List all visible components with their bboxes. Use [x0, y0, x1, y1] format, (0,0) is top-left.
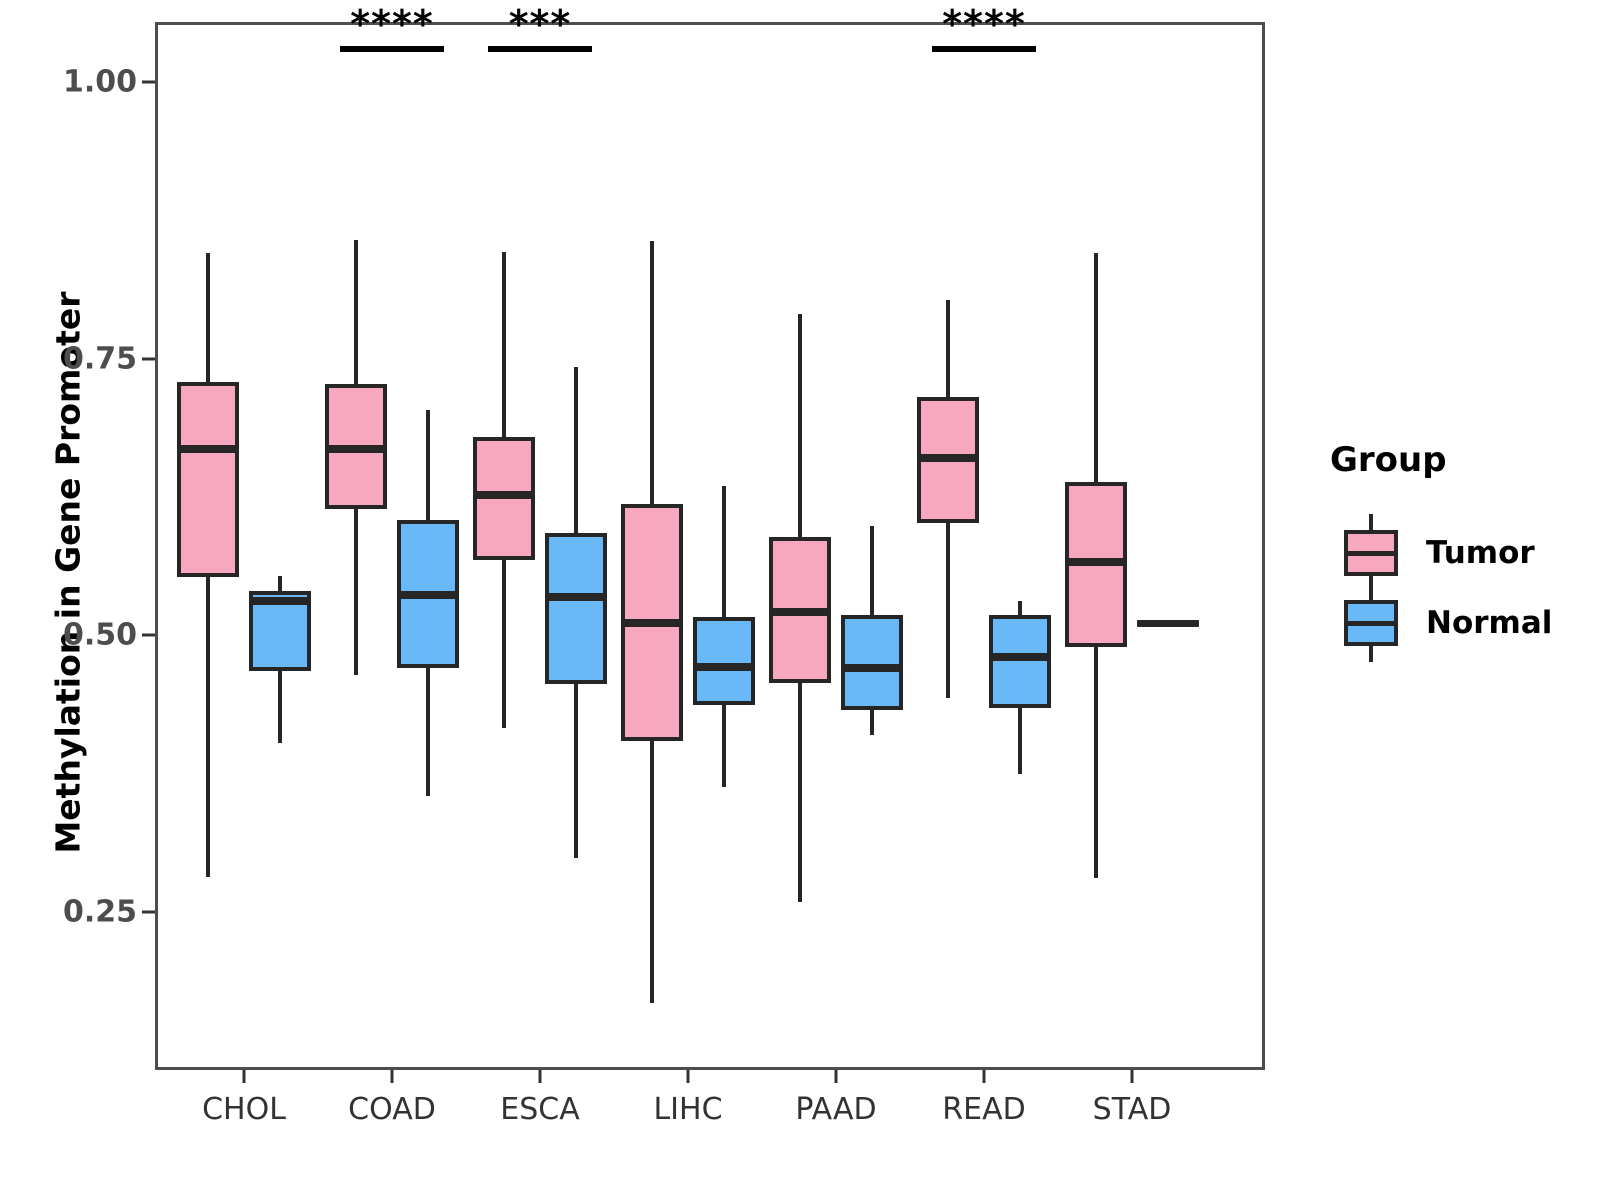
- box-stad-tumor-median: [1065, 558, 1127, 566]
- sig-bracket-esca: [488, 46, 592, 52]
- box-paad-normal: [841, 615, 903, 710]
- box-read-normal-median: [989, 653, 1051, 661]
- box-coad-tumor-median: [325, 445, 387, 453]
- x-tick-mark: [835, 1070, 838, 1083]
- sig-stars-esca: ***: [509, 2, 572, 46]
- legend-key-median: [1344, 621, 1398, 626]
- box-lihc-tumor-median: [621, 619, 683, 627]
- box-lihc-normal-median: [693, 663, 755, 671]
- y-tick-mark: [142, 910, 155, 913]
- y-tick-mark: [142, 634, 155, 637]
- sig-stars-read: ****: [942, 2, 1026, 46]
- x-tick-label-esca: ESCA: [500, 1092, 579, 1127]
- y-tick-label: 1.00: [27, 65, 137, 100]
- x-tick-label-coad: COAD: [348, 1092, 436, 1127]
- box-stad-normal-flat: [1137, 620, 1199, 627]
- box-lihc-normal: [693, 617, 755, 704]
- x-tick-label-read: READ: [942, 1092, 1025, 1127]
- y-tick-label: 0.50: [27, 618, 137, 653]
- x-tick-mark: [243, 1070, 246, 1083]
- x-tick-mark: [539, 1070, 542, 1083]
- x-tick-label-paad: PAAD: [795, 1092, 876, 1127]
- box-chol-tumor-median: [177, 445, 239, 453]
- legend-key-median: [1344, 551, 1398, 556]
- y-tick-label: 0.75: [27, 341, 137, 376]
- legend-label-normal: Normal: [1426, 605, 1552, 641]
- y-tick-mark: [142, 81, 155, 84]
- box-chol-tumor: [177, 382, 239, 578]
- box-esca-normal-median: [545, 593, 607, 601]
- chart-root: Methylation in Gene Promoter 1.000.750.5…: [0, 0, 1600, 1200]
- y-tick-label: 0.25: [27, 894, 137, 929]
- x-tick-mark: [391, 1070, 394, 1083]
- box-chol-normal-median: [249, 597, 311, 605]
- legend-key-whisker-top: [1369, 584, 1373, 600]
- box-read-tumor-median: [917, 454, 979, 462]
- box-esca-tumor-median: [473, 491, 535, 499]
- x-tick-label-stad: STAD: [1093, 1092, 1172, 1127]
- box-paad-tumor-median: [769, 608, 831, 616]
- y-tick-mark: [142, 357, 155, 360]
- x-tick-mark: [687, 1070, 690, 1083]
- sig-stars-coad: ****: [350, 2, 434, 46]
- x-tick-label-lihc: LIHC: [653, 1092, 722, 1127]
- legend-key-whisker-bottom: [1369, 646, 1373, 662]
- x-tick-mark: [1131, 1070, 1134, 1083]
- box-paad-normal-median: [841, 664, 903, 672]
- sig-bracket-read: [932, 46, 1036, 52]
- legend-key-whisker-top: [1369, 514, 1373, 530]
- box-coad-normal-median: [397, 591, 459, 599]
- legend-label-tumor: Tumor: [1426, 535, 1535, 571]
- box-read-normal: [989, 615, 1051, 708]
- sig-bracket-coad: [340, 46, 444, 52]
- box-esca-normal: [545, 533, 607, 683]
- x-tick-label-chol: CHOL: [202, 1092, 286, 1127]
- x-tick-mark: [983, 1070, 986, 1083]
- legend-title: Group: [1330, 440, 1447, 480]
